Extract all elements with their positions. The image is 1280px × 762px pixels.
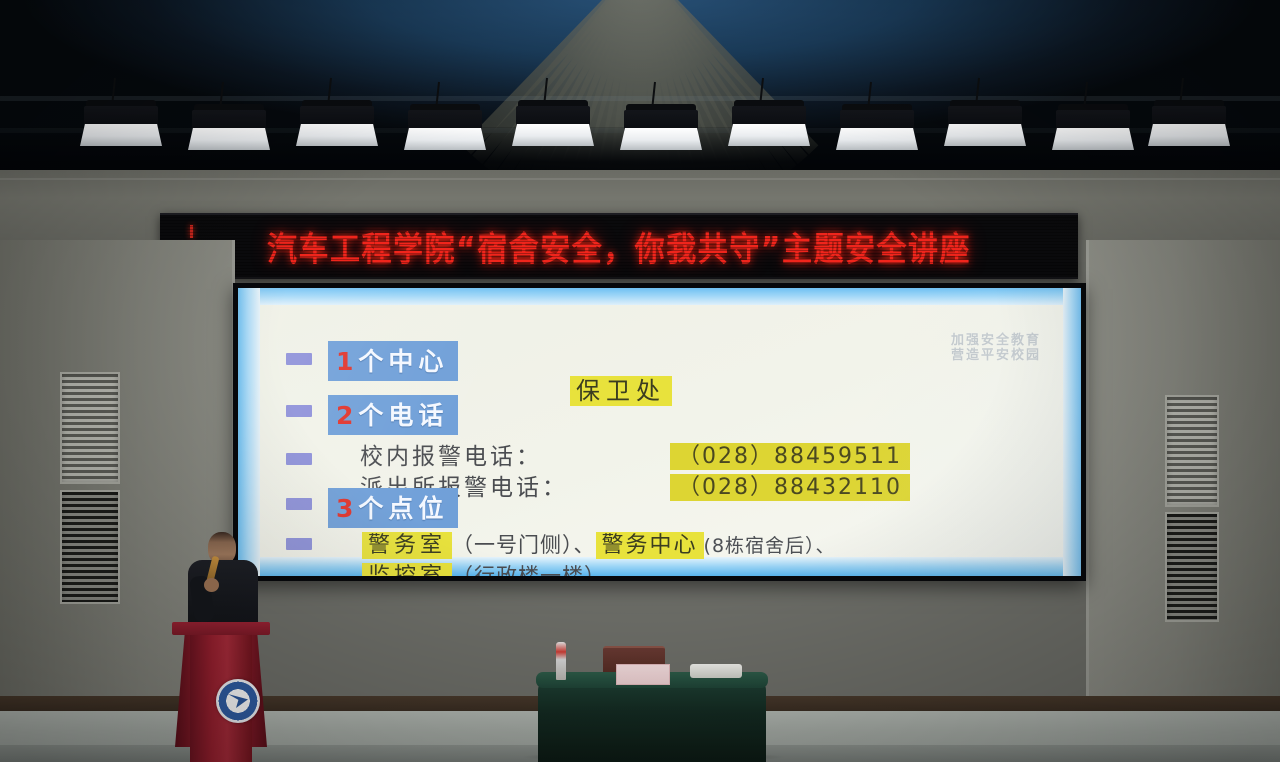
slide-heading-3-label: 个点位	[358, 494, 448, 523]
podium-front	[190, 635, 252, 762]
phone-value-2: （028）88432110	[670, 474, 910, 501]
light-face	[188, 128, 270, 150]
ceiling	[0, 0, 1280, 185]
stage-light	[1152, 104, 1226, 150]
security-office-value: 保卫处	[570, 376, 672, 406]
stage-light	[300, 104, 374, 150]
slide-watermark-line2: 营造平安校园	[951, 348, 1041, 363]
slide-heading-1: 1个中心	[328, 341, 458, 381]
bullet-marker-3	[286, 453, 312, 465]
location-2-note: (8栋宿舍后）、	[704, 535, 836, 557]
school-crest-icon	[216, 679, 260, 723]
location-3-name: 监控室	[362, 563, 452, 576]
light-face	[80, 124, 162, 146]
projection-screen-frame: 加强安全教育 营造平安校园 1个中心 保卫处	[233, 283, 1086, 581]
slide-heading-1-number: 1	[336, 347, 358, 376]
bullet-marker-1	[286, 353, 312, 365]
wall-seam	[0, 178, 1280, 180]
stage-light	[624, 108, 698, 154]
lecture-hall-photo: 汽车工程学院“宿舍安全，你我共守”主题安全讲座 加强安全教育 营造平安校园	[0, 0, 1280, 762]
stage-light	[732, 104, 806, 150]
slide-heading-2-label: 个电话	[358, 401, 448, 430]
light-face	[620, 128, 702, 150]
phone-label-1: 校内报警电话：	[360, 444, 542, 470]
stage-light	[516, 104, 590, 150]
water-bottle-icon	[556, 642, 566, 680]
light-face	[1052, 128, 1134, 150]
table-skirt	[538, 680, 766, 762]
stage-light	[948, 104, 1022, 150]
stage-light	[1056, 108, 1130, 154]
light-face	[728, 124, 810, 146]
phone-value-1: （028）88459511	[670, 443, 910, 470]
presenter	[184, 532, 260, 628]
projection-screen: 加强安全教育 营造平安校园 1个中心 保卫处	[238, 288, 1081, 576]
presenter-hand	[204, 578, 219, 592]
left-air-vent-upper	[60, 372, 120, 484]
banner-text: 汽车工程学院“宿舍安全，你我共守”主题安全讲座	[267, 221, 971, 270]
light-face	[1148, 124, 1230, 146]
light-face	[944, 124, 1026, 146]
led-banner: 汽车工程学院“宿舍安全，你我共守”主题安全讲座	[160, 213, 1078, 279]
right-air-vent-upper	[1165, 395, 1219, 507]
slide-heading-3: 3个点位	[328, 488, 458, 528]
light-face	[404, 128, 486, 150]
crest-bird-icon	[228, 694, 248, 708]
podium-top	[172, 622, 270, 635]
location-1-name: 警务室	[362, 532, 452, 559]
slide-content: 加强安全教育 营造平安校园 1个中心 保卫处	[260, 305, 1063, 557]
slide-watermark: 加强安全教育 营造平安校园	[951, 333, 1041, 363]
right-air-vent-lower	[1165, 512, 1219, 622]
name-card	[616, 664, 670, 685]
light-face	[512, 124, 594, 146]
stage-light	[192, 108, 266, 154]
slide-heading-3-number: 3	[336, 494, 358, 523]
bullet-marker-5	[286, 538, 312, 550]
stage-light	[408, 108, 482, 154]
location-3-note: （行政楼一楼）	[452, 564, 606, 576]
slide-border-top	[238, 288, 1081, 305]
speaker-table	[538, 672, 766, 762]
bullet-marker-4	[286, 498, 312, 510]
bullet-marker-2	[286, 405, 312, 417]
stage-light	[840, 108, 914, 154]
slide-heading-2-number: 2	[336, 401, 358, 430]
slide-heading-2: 2个电话	[328, 395, 458, 435]
slide-watermark-line1: 加强安全教育	[951, 333, 1041, 348]
right-wall-edge	[1086, 240, 1089, 700]
podium-left-face	[175, 635, 191, 747]
podium	[172, 622, 270, 762]
location-2-name: 警务中心	[596, 532, 704, 559]
slide-heading-1-label: 个中心	[358, 347, 448, 376]
folded-paper	[690, 664, 742, 678]
slide-border-right	[1063, 288, 1081, 576]
location-1-note: （一号门侧）、	[452, 533, 596, 557]
light-face	[296, 124, 378, 146]
light-face	[836, 128, 918, 150]
stage-light	[84, 104, 158, 150]
left-air-vent-lower	[60, 490, 120, 604]
